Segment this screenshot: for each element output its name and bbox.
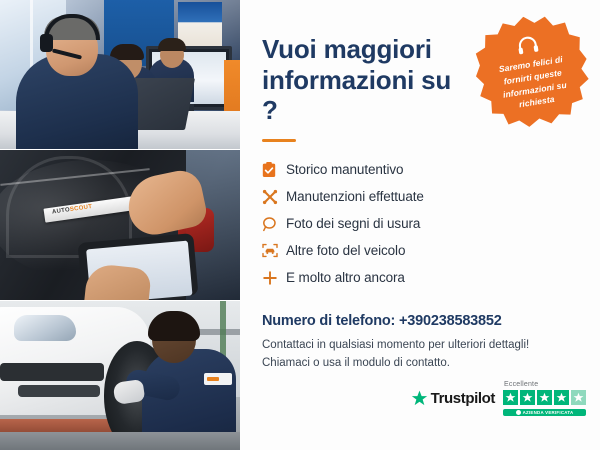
contact-line-2: Chiamaci o usa il modulo di contatto. bbox=[262, 355, 578, 373]
trustpilot-widget[interactable]: Trustpilot Eccellente bbox=[411, 381, 586, 416]
trustpilot-logo: Trustpilot bbox=[411, 390, 495, 407]
car-bumper-vent bbox=[18, 385, 100, 397]
contact-instructions: Contattaci in qualsiasi momento per ulte… bbox=[262, 337, 578, 373]
rating-label: Eccellente bbox=[503, 381, 538, 388]
headline-line-1: Vuoi maggiori bbox=[262, 34, 432, 64]
list-item: Altre foto del veicolo bbox=[262, 237, 578, 264]
technician-tyre-check-photo bbox=[0, 300, 240, 450]
workshop-floor bbox=[0, 432, 240, 450]
check-circle-icon bbox=[516, 410, 521, 415]
star-filled bbox=[537, 390, 552, 405]
car-grille bbox=[0, 363, 104, 381]
list-item-label: Foto dei segni di usura bbox=[286, 216, 420, 231]
phone-number[interactable]: +390238583852 bbox=[399, 313, 502, 329]
clipboard-check-icon bbox=[262, 162, 286, 178]
photo-column: AUTOSCOUT bbox=[0, 0, 240, 450]
tools-cross-icon bbox=[262, 189, 286, 205]
contact-info-banner: AUTOSCOUT bbox=[0, 0, 600, 450]
headline-line-2: informazioni su ? bbox=[262, 65, 451, 126]
ruler-brand-text: AUTOSCOUT bbox=[52, 204, 93, 216]
star-rating bbox=[503, 390, 586, 405]
list-item: Storico manutentivo bbox=[262, 156, 578, 183]
car-headlight bbox=[14, 315, 76, 341]
feature-list: Storico manutentivo Manutenzioni effettu… bbox=[262, 156, 578, 291]
star-filled bbox=[503, 390, 518, 405]
uniform-logo-patch bbox=[204, 373, 232, 385]
list-item: Manutenzioni effettuate bbox=[262, 183, 578, 210]
star-partial bbox=[571, 390, 586, 405]
verified-business-badge: AZIENDA VERIFICATA bbox=[503, 409, 586, 416]
trustpilot-name: Trustpilot bbox=[431, 390, 495, 407]
request-info-badge: Saremo felici di fornirti queste informa… bbox=[468, 8, 596, 136]
title-underline-rule bbox=[262, 139, 296, 142]
phone-line: Numero di telefono: +390238583852 bbox=[262, 313, 578, 329]
verified-badge-text: AZIENDA VERIFICATA bbox=[523, 410, 574, 415]
call-center-agents-photo bbox=[0, 0, 240, 149]
vehicle-inspection-ruler-photo: AUTOSCOUT bbox=[0, 149, 240, 299]
car-scan-icon bbox=[262, 243, 286, 258]
magnifier-icon bbox=[262, 216, 286, 232]
list-item-label: Manutenzioni effettuate bbox=[286, 189, 424, 204]
star-filled bbox=[520, 390, 535, 405]
trustpilot-star-icon bbox=[411, 390, 428, 407]
headset-icon bbox=[516, 35, 541, 56]
phone-label: Numero di telefono: bbox=[262, 313, 395, 329]
technician-glove bbox=[113, 379, 146, 405]
list-item: E molto altro ancora bbox=[262, 264, 578, 291]
list-item: Foto dei segni di usura bbox=[262, 210, 578, 237]
star-filled bbox=[554, 390, 569, 405]
headset-earcup bbox=[40, 34, 53, 52]
list-item-label: Storico manutentivo bbox=[286, 162, 403, 177]
list-item-label: Altre foto del veicolo bbox=[286, 243, 405, 258]
content-panel: Saremo felici di fornirti queste informa… bbox=[240, 0, 600, 450]
plus-icon bbox=[262, 270, 286, 286]
list-item-label: E molto altro ancora bbox=[286, 270, 405, 285]
background-agent-3-hair bbox=[158, 38, 186, 51]
trustpilot-rating-block: Eccellente bbox=[503, 381, 586, 416]
contact-line-1: Contattaci in qualsiasi momento per ulte… bbox=[262, 337, 578, 355]
page-title: Vuoi maggiori informazioni su ? bbox=[262, 34, 472, 126]
